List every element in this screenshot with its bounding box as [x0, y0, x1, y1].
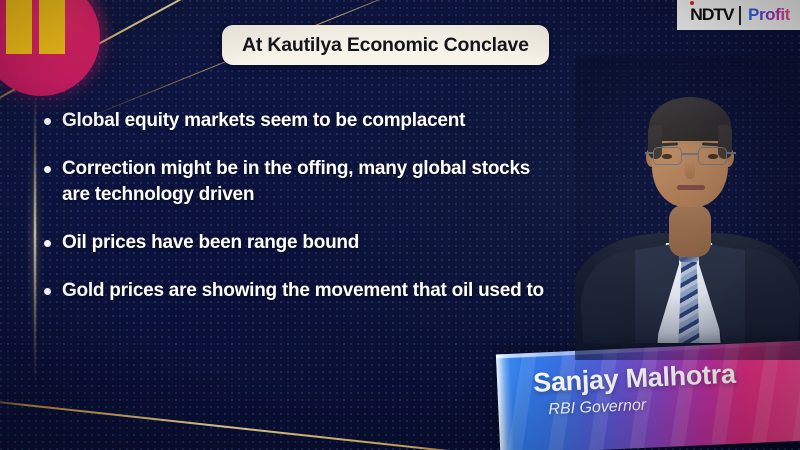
quotation-mark-icon	[6, 0, 68, 58]
gold-vertical-line-glow	[30, 140, 39, 340]
bullet-text: Correction might be in the offing, many …	[62, 156, 556, 207]
bullet-text: Global equity markets seem to be complac…	[62, 108, 465, 133]
gold-vertical-divider-line	[34, 95, 36, 385]
list-item: Gold prices are showing the movement tha…	[44, 278, 556, 303]
bullet-dot-icon	[44, 240, 51, 247]
logo-red-dot-icon	[690, 1, 694, 5]
logo-divider-bar	[739, 6, 741, 25]
eyeglasses-icon	[651, 147, 729, 167]
list-item: Oil prices have been range bound	[44, 230, 556, 255]
bullet-dot-icon	[44, 166, 51, 173]
bullet-dot-icon	[44, 118, 51, 125]
list-item: Correction might be in the offing, many …	[44, 156, 556, 207]
portrait-neck	[669, 205, 711, 257]
speaker-portrait-photo	[575, 55, 800, 360]
headline-text: At Kautilya Economic Conclave	[242, 34, 529, 57]
gold-diagonal-line-bottom	[0, 398, 527, 450]
banner-left-edge-highlight	[496, 354, 515, 450]
bullet-text: Gold prices are showing the movement tha…	[62, 278, 544, 303]
bullet-text: Oil prices have been range bound	[62, 230, 359, 255]
banner-text-group: Sanjay Malhotra RBI Governor	[533, 360, 738, 420]
portrait-mouth	[677, 185, 705, 190]
headline-pill: At Kautilya Economic Conclave	[222, 25, 549, 65]
bullet-list: Global equity markets seem to be complac…	[44, 108, 556, 326]
news-graphic-card: At Kautilya Economic Conclave NDTV Profi…	[0, 0, 800, 450]
ndtv-profit-logo[interactable]: NDTV Profit	[677, 0, 800, 30]
logo-ndtv-text: NDTV	[690, 5, 733, 25]
logo-profit-text: Profit	[748, 5, 790, 25]
bullet-dot-icon	[44, 288, 51, 295]
lower-third-name-banner: Sanjay Malhotra RBI Governor	[496, 340, 800, 450]
list-item: Global equity markets seem to be complac…	[44, 108, 556, 133]
